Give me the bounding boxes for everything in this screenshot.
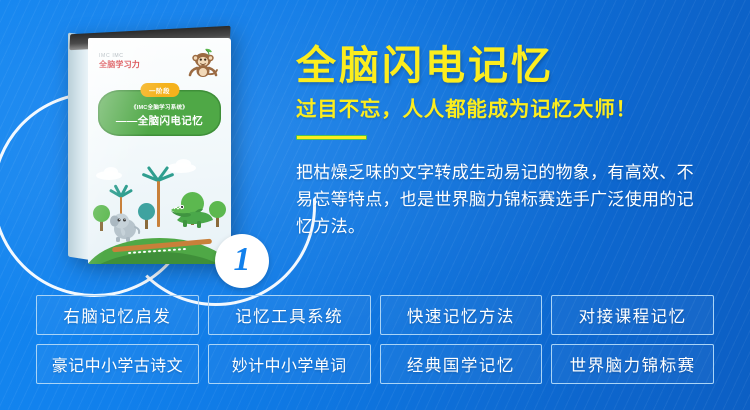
box-stage-label: 一阶段 bbox=[140, 83, 179, 97]
feature-tag[interactable]: 对接课程记忆 bbox=[551, 295, 714, 335]
feature-tag[interactable]: 右脑记忆启发 bbox=[36, 295, 199, 335]
feature-tag-row: 豪记中小学古诗文 妙计中小学单词 经典国学记忆 世界脑力锦标赛 bbox=[36, 344, 714, 384]
feature-tag[interactable]: 妙计中小学单词 bbox=[208, 344, 371, 384]
promo-banner: IMC IMC 全脑学习力 bbox=[0, 0, 750, 410]
copy-block: 全脑闪电记忆 过目不忘，人人都能成为记忆大师！ 把枯燥乏味的文字转成生动易记的物… bbox=[296, 44, 726, 241]
palm-tree-illustration bbox=[157, 179, 160, 227]
brand-logo: IMC IMC 全脑学习力 bbox=[99, 55, 140, 69]
feature-tag-grid: 右脑记忆启发 记忆工具系统 快速记忆方法 对接课程记忆 豪记中小学古诗文 妙计中… bbox=[36, 295, 714, 384]
box-title-label: ——全脑闪电记忆 bbox=[98, 113, 221, 128]
description-paragraph: 把枯燥乏味的文字转成生动易记的物象，有高效、不易忘等特点，也是世界脑力锦标赛选手… bbox=[296, 160, 702, 241]
cloud-illustration bbox=[104, 167, 118, 176]
accent-divider bbox=[296, 135, 367, 140]
feature-tag[interactable]: 快速记忆方法 bbox=[380, 295, 543, 335]
box-scene-illustration bbox=[88, 159, 231, 264]
product-image-area: IMC IMC 全脑学习力 bbox=[40, 18, 290, 288]
monkey-illustration bbox=[183, 47, 223, 81]
box-spine bbox=[68, 33, 90, 260]
cloud-illustration bbox=[176, 159, 191, 168]
crocodile-illustration bbox=[169, 200, 215, 230]
stage-number-badge: 1 bbox=[215, 234, 269, 288]
brand-logo-cn: 全脑学习力 bbox=[99, 61, 140, 69]
brand-logo-en: IMC IMC bbox=[99, 54, 165, 59]
elephant-illustration bbox=[108, 210, 142, 242]
headline: 全脑闪电记忆 bbox=[296, 44, 726, 89]
product-box: IMC IMC 全脑学习力 bbox=[68, 28, 233, 268]
box-title-plaque: 一阶段 《IMC全脑学习系统》 ——全脑闪电记忆 bbox=[98, 90, 221, 136]
feature-tag[interactable]: 记忆工具系统 bbox=[208, 295, 371, 335]
subheadline: 过目不忘，人人都能成为记忆大师！ bbox=[296, 98, 726, 123]
feature-tag-row: 右脑记忆启发 记忆工具系统 快速记忆方法 对接课程记忆 bbox=[36, 295, 714, 335]
box-front-cover: IMC IMC 全脑学习力 bbox=[88, 38, 231, 264]
stage-number-label: 1 bbox=[234, 243, 251, 277]
feature-tag[interactable]: 世界脑力锦标赛 bbox=[551, 344, 714, 384]
box-system-label: 《IMC全脑学习系统》 bbox=[98, 103, 221, 111]
feature-tag[interactable]: 经典国学记忆 bbox=[380, 344, 543, 384]
feature-tag[interactable]: 豪记中小学古诗文 bbox=[36, 344, 199, 384]
